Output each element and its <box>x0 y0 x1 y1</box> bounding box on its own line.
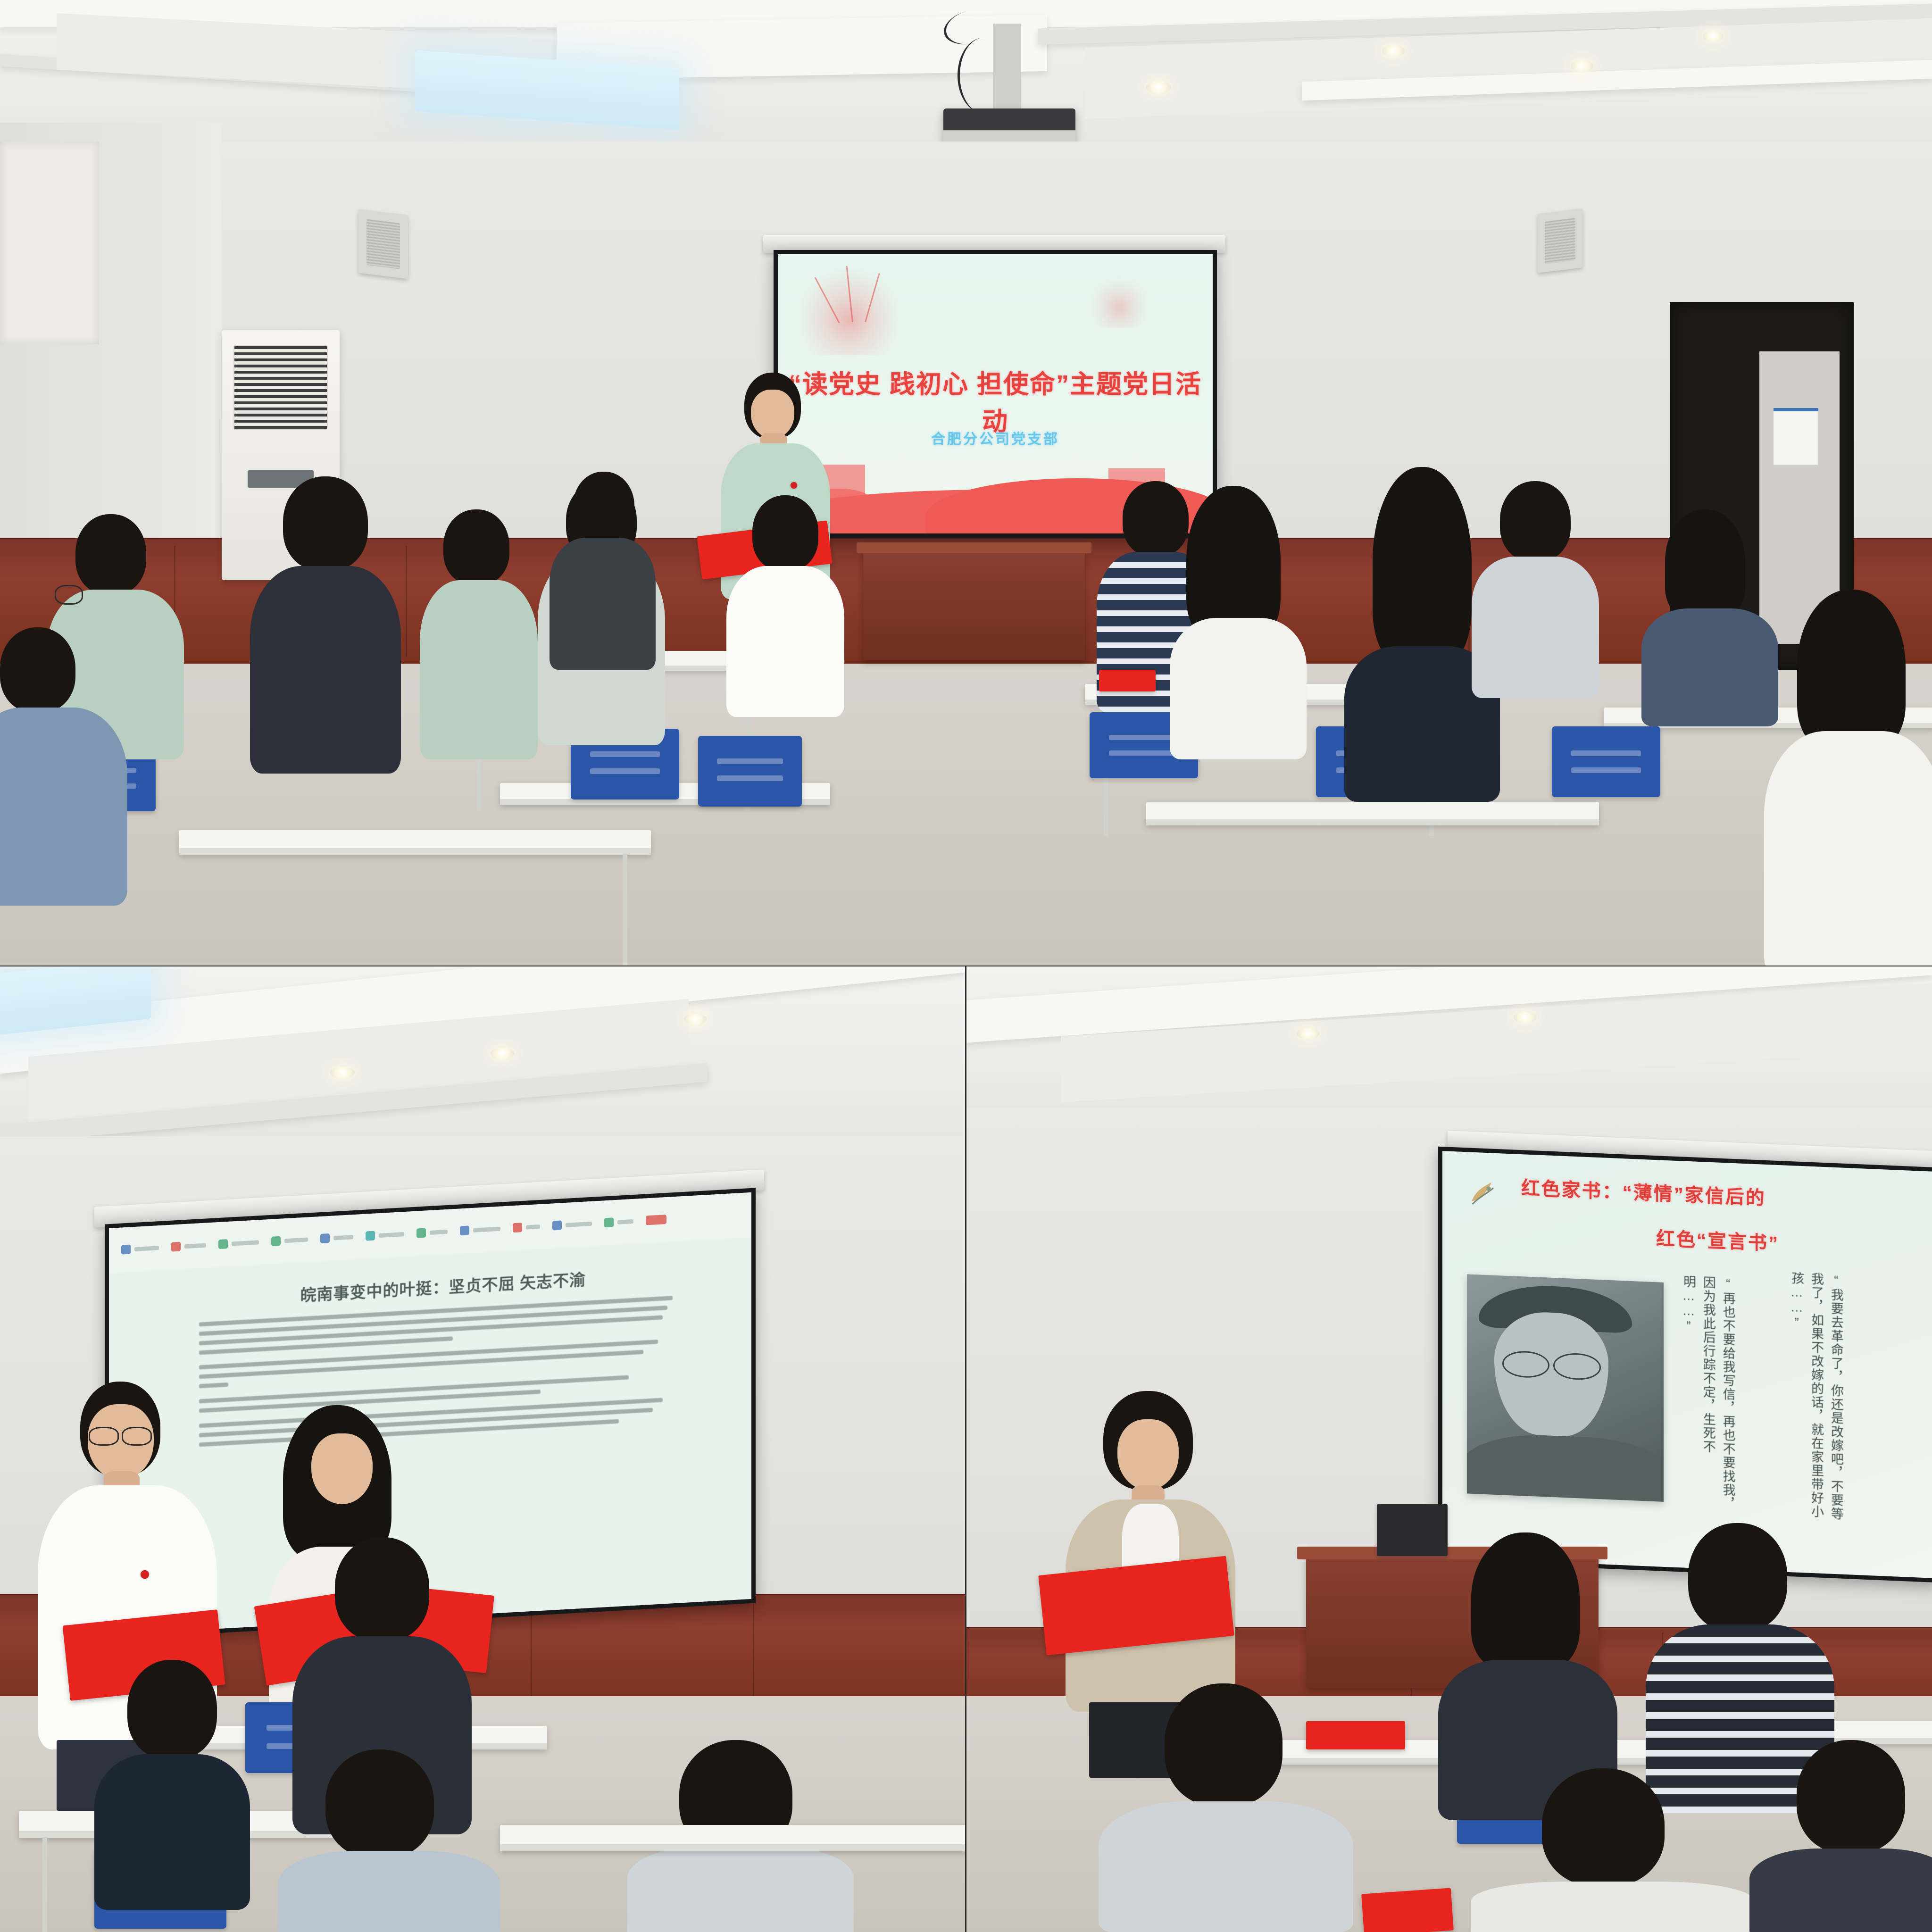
portrait-photo <box>1467 1274 1664 1502</box>
party-emblem-pin <box>791 482 797 489</box>
firework-graphic <box>799 266 899 355</box>
audience-member <box>1764 590 1932 966</box>
audience-head <box>443 509 509 585</box>
audience-member <box>245 476 401 769</box>
audience-hair <box>1797 590 1906 750</box>
audience-torso <box>1641 608 1778 726</box>
audience-hair <box>1665 509 1745 618</box>
collage-panel-top: “读党史 践初心 担使命”主题党日活动 合肥分公司党支部 <box>0 0 1932 966</box>
bookmark-item[interactable] <box>320 1232 353 1244</box>
audience-torso <box>1170 618 1307 759</box>
audience-member <box>1089 1683 1353 1932</box>
audience-head <box>573 472 634 542</box>
audience-member <box>94 1660 250 1905</box>
audience-head <box>75 514 146 594</box>
eyeglasses <box>89 1427 119 1446</box>
audience-head <box>0 627 75 712</box>
ceiling-downlight <box>1571 60 1593 72</box>
ceiling-downlight <box>1297 1028 1319 1039</box>
audience-head <box>1797 1740 1905 1853</box>
desk <box>500 1825 965 1851</box>
audience-head <box>1165 1683 1282 1806</box>
firework-graphic <box>1091 276 1148 328</box>
desk <box>179 830 651 855</box>
audience-member <box>264 1749 509 1932</box>
audience-member <box>1472 481 1599 693</box>
bookmark-item[interactable] <box>218 1238 259 1249</box>
audience-torso <box>278 1851 500 1932</box>
ceiling-downlight <box>1703 31 1724 42</box>
bookmark-item[interactable] <box>513 1222 540 1232</box>
ceiling-downlight <box>491 1048 514 1059</box>
desk <box>1146 802 1599 825</box>
audience-torso <box>1764 731 1932 966</box>
projection-screen: 红色家书：“薄情”家信后的 红色“宣言书” “再也不要给我写信，再也不要找我，因… <box>1438 1147 1932 1582</box>
ceiling-downlight <box>1382 45 1405 57</box>
audience-head <box>1542 1768 1665 1886</box>
bookmark-item[interactable] <box>460 1224 500 1236</box>
ceiling-downlight <box>1514 1012 1536 1023</box>
audience-member <box>415 509 538 755</box>
desk-leg <box>623 854 627 966</box>
audience-torso <box>726 566 844 717</box>
bookmark-item[interactable] <box>171 1241 206 1252</box>
screen-surface: 红色家书：“薄情”家信后的 红色“宣言书” “再也不要给我写信，再也不要找我，因… <box>1442 1151 1932 1578</box>
collage-panel-bottom-right: 红色家书：“薄情”家信后的 红色“宣言书” “再也不要给我写信，再也不要找我，因… <box>966 966 1932 1932</box>
projector-cable <box>958 38 1009 113</box>
bookmark-item[interactable] <box>366 1229 404 1241</box>
party-emblem-pin <box>141 1570 149 1579</box>
bookmark-item[interactable] <box>604 1216 633 1227</box>
audience-torso <box>627 1846 854 1932</box>
window-blind <box>0 142 99 344</box>
audience-member <box>726 495 844 693</box>
chair[interactable] <box>698 736 802 807</box>
bookmark-item[interactable] <box>121 1243 159 1255</box>
audience-head <box>1500 481 1571 561</box>
audience-head <box>283 476 368 571</box>
wall-speaker <box>358 209 408 279</box>
bookmark-item[interactable] <box>271 1235 308 1246</box>
audience-torso <box>94 1754 250 1910</box>
presenter-face <box>1117 1419 1179 1490</box>
ceiling-downlight <box>330 1066 355 1079</box>
eyeglasses <box>55 585 83 605</box>
audience-torso <box>0 708 127 906</box>
audience-torso <box>1472 557 1599 698</box>
collage-panel-bottom-left: 皖南事变中的叶挺：坚贞不屈 矢志不渝 <box>0 966 965 1932</box>
audience-torso <box>1099 1801 1353 1932</box>
corridor-notice-board <box>1774 408 1818 465</box>
audience-member <box>1749 1740 1932 1932</box>
audience-member <box>1641 509 1778 717</box>
ac-grill <box>233 345 328 430</box>
photo-collage: “读党史 践初心 担使命”主题党日活动 合肥分公司党支部 <box>0 0 1932 1932</box>
audience-head <box>335 1537 429 1641</box>
audience-head <box>325 1749 434 1858</box>
presenter-face <box>751 390 794 439</box>
audience-head <box>752 495 818 571</box>
ceiling-downlight <box>1146 81 1171 93</box>
red-folder-on-desk <box>1099 670 1156 691</box>
audience-member <box>1160 486 1302 750</box>
ceiling-downlight <box>684 1014 707 1025</box>
audience-hair <box>1373 467 1472 665</box>
presenter-face <box>311 1433 373 1504</box>
letter-quote-left: “再也不要给我写信，再也不要找我，因为我此后行踪不定，生死不明……” <box>1678 1274 1738 1513</box>
audience-member <box>0 627 123 873</box>
eyeglasses <box>122 1427 152 1446</box>
audience-torso <box>550 538 656 670</box>
desk-leg <box>42 1837 47 1932</box>
letter-quote-right: “我要去革命了，你还是改嫁吧，不要等我了，如果不改嫁的话，就在家里带好小孩……” <box>1786 1271 1846 1526</box>
leaf-ornament-icon <box>1467 1176 1500 1211</box>
audience-hair <box>1471 1532 1580 1669</box>
red-folder-on-desk <box>1361 1888 1454 1932</box>
wall-speaker <box>1538 208 1582 273</box>
audience-torso <box>1749 1849 1932 1932</box>
lectern <box>863 542 1085 660</box>
bookmark-item[interactable] <box>416 1227 448 1238</box>
audience-head <box>1688 1523 1787 1632</box>
audience-torso <box>1471 1882 1754 1932</box>
chair[interactable] <box>1552 726 1660 797</box>
audience-torso <box>250 566 401 774</box>
audience-member <box>547 472 656 651</box>
bookmark-item[interactable] <box>646 1215 666 1225</box>
audience-torso <box>420 580 538 759</box>
audience-member <box>1457 1768 1749 1932</box>
bookmark-item[interactable] <box>552 1219 592 1231</box>
portrait-shoulders <box>1467 1432 1664 1501</box>
audience-head <box>127 1660 217 1759</box>
